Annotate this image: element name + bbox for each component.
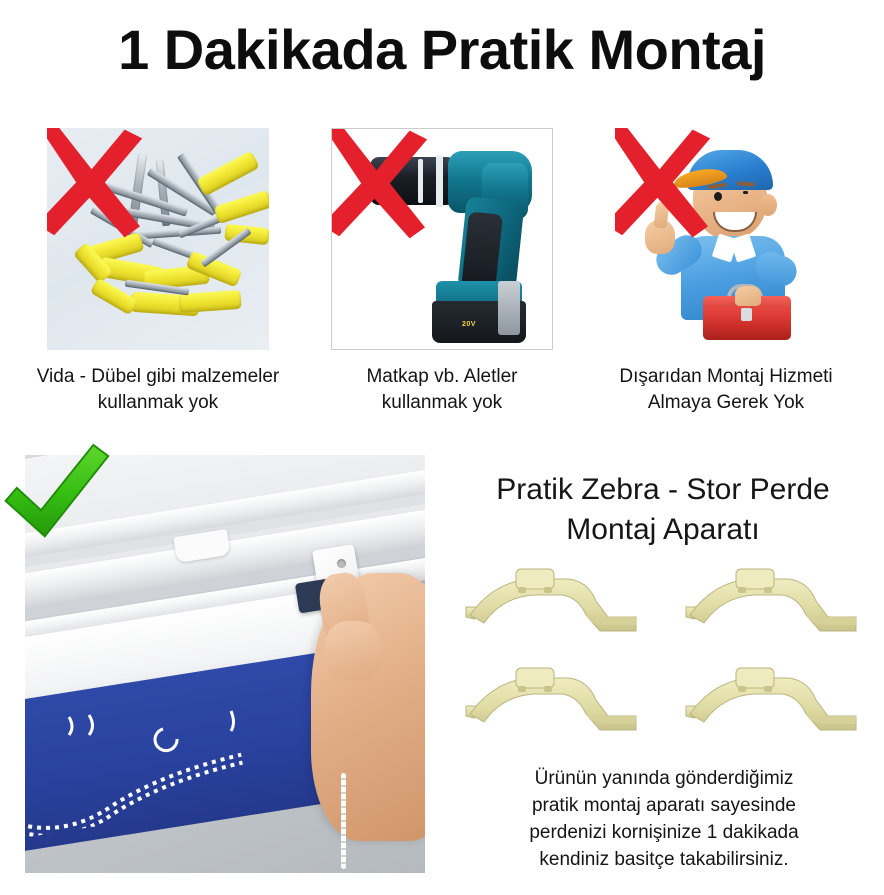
cordless-drill-photo: 20V (331, 128, 553, 350)
infographic-page: 1 Dakikada Pratik Montaj (0, 0, 884, 895)
mounting-clips-grid (455, 560, 875, 750)
caption-line-2: kullanmak yok (302, 390, 582, 416)
product-heading: Pratik Zebra - Stor Perde Montaj Aparatı (442, 470, 884, 550)
description-line-4: kendiniz basitçe takabilirsiniz. (452, 846, 876, 873)
product-heading-line-2: Montaj Aparatı (442, 510, 884, 550)
caption-line-1: Dışarıdan Montaj Hizmeti (586, 364, 866, 390)
product-description: Ürünün yanında gönderdiğimiz pratik mont… (452, 765, 876, 873)
caption-line-2: Almaya Gerek Yok (586, 390, 866, 416)
description-line-2: pratik montaj aparatı sayesinde (452, 792, 876, 819)
blind-pattern (55, 707, 275, 767)
screws-and-wall-plugs-photo (47, 128, 269, 350)
mounting-clip-bracket (460, 666, 650, 744)
prohibited-item-drill: 20V Matkap vb. Aletler kullanmak yok (308, 128, 576, 428)
caption-line-1: Matkap vb. Aletler (302, 364, 582, 390)
mounting-clip-bracket (680, 666, 870, 744)
green-check-mark (0, 443, 112, 555)
prohibited-items-row: Vida - Dübel gibi malzemeler kullanmak y… (0, 128, 884, 428)
page-title: 1 Dakikada Pratik Montaj (0, 18, 884, 82)
description-line-3: perdenizi kornişinize 1 dakikada (452, 819, 876, 846)
prohibited-item-installer: Dışarıdan Montaj Hizmeti Almaya Gerek Yo… (592, 128, 860, 428)
prohibited-item-caption: Vida - Dübel gibi malzemeler kullanmak y… (18, 364, 298, 416)
product-heading-line-1: Pratik Zebra - Stor Perde (442, 470, 884, 510)
prohibited-item-caption: Dışarıdan Montaj Hizmeti Almaya Gerek Yo… (586, 364, 866, 416)
handyman-with-toolbox-photo (615, 128, 837, 350)
mounting-clip-bracket (460, 567, 650, 645)
prohibited-item-caption: Matkap vb. Aletler kullanmak yok (302, 364, 582, 416)
prohibited-item-screws: Vida - Dübel gibi malzemeler kullanmak y… (24, 128, 292, 428)
caption-line-2: kullanmak yok (18, 390, 298, 416)
description-line-1: Ürünün yanında gönderdiğimiz (452, 765, 876, 792)
mounting-clip-bracket (680, 567, 870, 645)
caption-line-1: Vida - Dübel gibi malzemeler (18, 364, 298, 390)
